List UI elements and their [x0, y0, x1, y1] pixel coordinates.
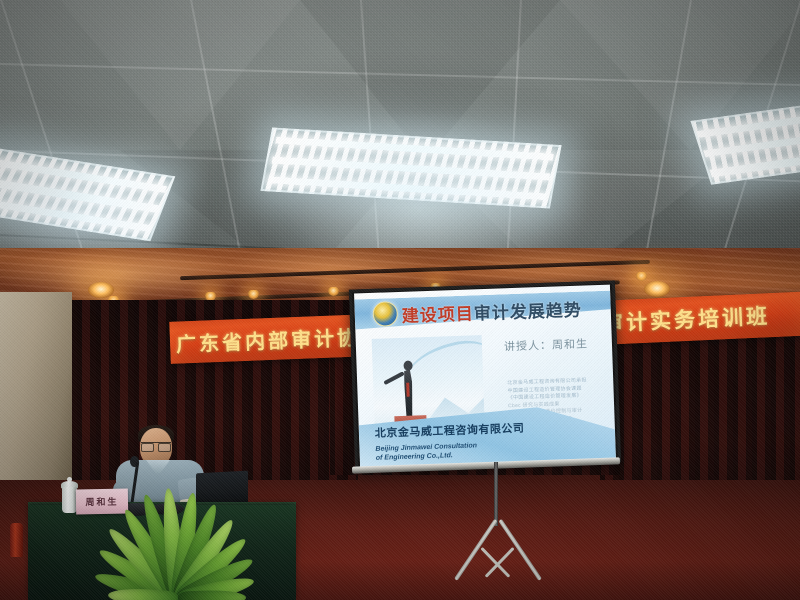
- banner-right-text: 审计实务培训班: [611, 300, 771, 338]
- glasses-lens-right: [158, 443, 171, 452]
- ceiling-downlight: [644, 281, 670, 297]
- projection-screen: 建设项目审计发展趋势 讲授人：周和生 北京金马威工程咨询有限公司承担 中国建设工…: [349, 280, 621, 471]
- track-spotlight: [248, 290, 259, 299]
- presentation-slide: 建设项目审计发展趋势 讲授人：周和生 北京金马威工程咨询有限公司承担 中国建设工…: [354, 285, 616, 468]
- banner-left: 广东省内部审计协会建: [169, 314, 370, 364]
- slide-title: 建设项目审计发展趋势: [401, 296, 582, 327]
- slide-title-rest: 审计发展趋势: [473, 301, 582, 324]
- banner-left-text: 广东省内部审计协会建: [170, 319, 371, 357]
- slide-presenter-line: 讲授人：周和生: [504, 335, 589, 354]
- tripod-center-pole: [494, 462, 498, 526]
- figure-arm: [383, 371, 404, 385]
- glasses-lens-left: [141, 443, 154, 452]
- sky-swoosh: [402, 335, 485, 396]
- figure-tie: [406, 383, 409, 397]
- banner-right: 审计实务培训班: [611, 292, 800, 345]
- potted-green-plant: [58, 488, 298, 600]
- track-spotlight: [328, 287, 339, 296]
- ceiling-downlight: [88, 282, 114, 298]
- fire-extinguisher: [10, 523, 23, 557]
- glasses-icon: [141, 442, 171, 450]
- track-spotlight: [636, 272, 647, 281]
- slide-title-highlight: 建设项目: [402, 304, 475, 326]
- slide-company-en: Beijing Jinmawei Consultation of Enginee…: [375, 441, 477, 463]
- photo-scene: 广东省内部审计协会建 审计实务培训班 建设项目审计发展趋势 讲授人：周和生: [0, 0, 800, 600]
